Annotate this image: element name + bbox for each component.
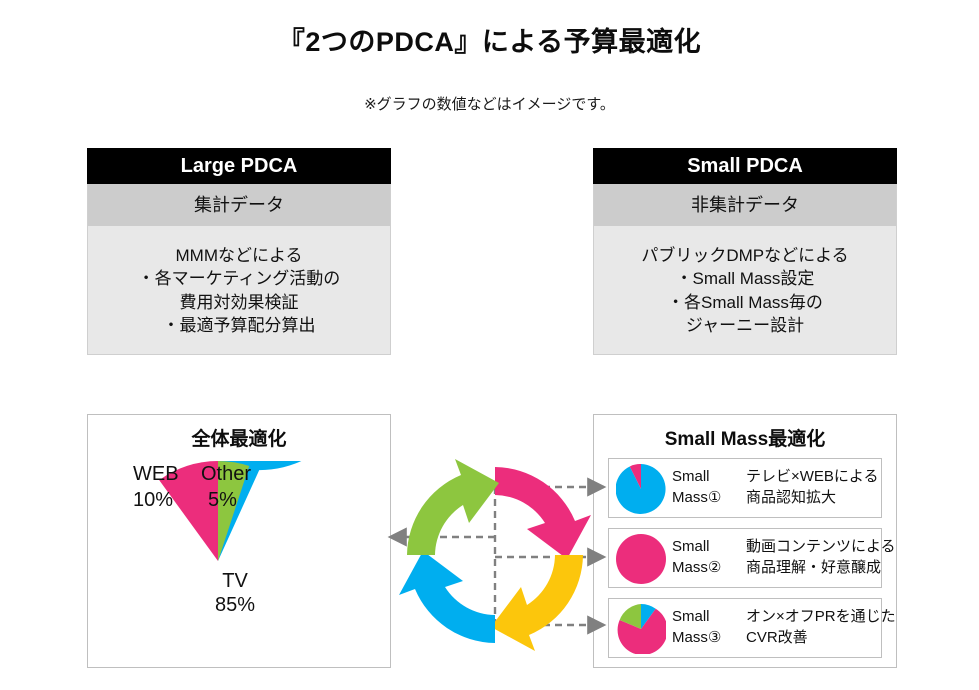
small-mass-row-1-desc-line2: 商品認知拡大 (746, 487, 878, 508)
cycle-arrow-magenta (495, 467, 591, 559)
cycle-arrow-green (407, 459, 499, 555)
slide-canvas: 『2つのPDCA』による予算最適化 ※グラフの数値などはイメージです。 Larg… (0, 0, 979, 690)
pie-slice-magenta (616, 534, 666, 584)
panel-small-pdca-subheader: 非集計データ (593, 184, 897, 226)
small-mass-row-1-name-line1: Small (672, 466, 721, 487)
pdca-cycle-arrows (395, 455, 595, 655)
panel-large-pdca-subheader: 集計データ (87, 184, 391, 226)
small-mass-1-pie-icon (616, 464, 666, 514)
page-title: 『2つのPDCA』による予算最適化 (0, 20, 979, 59)
small-mass-row-3-name-line2: Mass③ (672, 627, 721, 648)
small-mass-row-1[interactable]: Small Mass① テレビ×WEBによる 商品認知拡大 (608, 458, 882, 518)
small-mass-row-2[interactable]: Small Mass② 動画コンテンツによる 商品理解・好意醸成 (608, 528, 882, 588)
panel-large-pdca-line-4: ・最適予算配分算出 (94, 314, 384, 337)
small-mass-row-3[interactable]: Small Mass③ オン×オフPRを通じた CVR改善 (608, 598, 882, 658)
small-mass-row-3-name-line1: Small (672, 606, 721, 627)
small-mass-row-3-desc-line1: オン×オフPRを通じた (746, 606, 896, 627)
box-overall-optimization-title: 全体最適化 (88, 424, 390, 451)
small-mass-3-pie-icon (616, 604, 666, 654)
small-mass-2-pie-icon (616, 534, 666, 584)
small-mass-row-2-name: Small Mass② (672, 536, 721, 579)
panel-small-pdca: Small PDCA 非集計データ パブリックDMPなどによる ・Small M… (593, 148, 897, 355)
page-subtitle: ※グラフの数値などはイメージです。 (0, 93, 979, 114)
small-mass-row-3-desc: オン×オフPRを通じた CVR改善 (746, 606, 896, 649)
pie-label-web-name: WEB (133, 463, 179, 486)
panel-large-pdca-line-1: MMMなどによる (94, 244, 384, 267)
panel-small-pdca-header: Small PDCA (593, 148, 897, 184)
small-mass-row-2-desc: 動画コンテンツによる 商品理解・好意醸成 (746, 536, 896, 579)
panel-large-pdca: Large PDCA 集計データ MMMなどによる ・各マーケティング活動の 費… (87, 148, 391, 355)
panel-large-pdca-line-3: 費用対効果検証 (94, 291, 384, 314)
cycle-arrow-yellow (491, 555, 583, 651)
pie-label-tv: TV 85% (215, 569, 255, 617)
panel-large-pdca-header: Large PDCA (87, 148, 391, 184)
small-mass-row-1-desc: テレビ×WEBによる 商品認知拡大 (746, 466, 878, 509)
small-mass-row-1-name-line2: Mass① (672, 487, 721, 508)
box-small-mass-optimization-title: Small Mass最適化 (594, 424, 896, 451)
panel-small-pdca-line-3: ・各Small Mass毎の (600, 291, 890, 314)
panel-small-pdca-line-2: ・Small Mass設定 (600, 267, 890, 290)
pie-label-web-value: 10% (133, 489, 173, 512)
small-mass-row-1-name: Small Mass① (672, 466, 721, 509)
panel-large-pdca-line-2: ・各マーケティング活動の (94, 267, 384, 290)
pie-label-tv-value: 85% (215, 593, 255, 617)
cycle-arrow-cyan (399, 551, 495, 643)
small-mass-row-2-desc-line2: 商品理解・好意醸成 (746, 557, 896, 578)
pie-label-other-value: 5% (208, 489, 237, 512)
panel-small-pdca-line-1: パブリックDMPなどによる (600, 244, 890, 267)
panel-large-pdca-body: MMMなどによる ・各マーケティング活動の 費用対効果検証 ・最適予算配分算出 (87, 226, 391, 355)
small-mass-row-2-name-line1: Small (672, 536, 721, 557)
pie-label-other-name: Other (201, 463, 251, 486)
panel-small-pdca-line-4: ジャーニー設計 (600, 314, 890, 337)
small-mass-row-3-name: Small Mass③ (672, 606, 721, 649)
small-mass-row-2-name-line2: Mass② (672, 557, 721, 578)
small-mass-row-1-desc-line1: テレビ×WEBによる (746, 466, 878, 487)
panel-small-pdca-body: パブリックDMPなどによる ・Small Mass設定 ・各Small Mass… (593, 226, 897, 355)
small-mass-row-3-desc-line2: CVR改善 (746, 627, 896, 648)
small-mass-row-2-desc-line1: 動画コンテンツによる (746, 536, 896, 557)
pie-label-tv-name: TV (215, 569, 255, 593)
